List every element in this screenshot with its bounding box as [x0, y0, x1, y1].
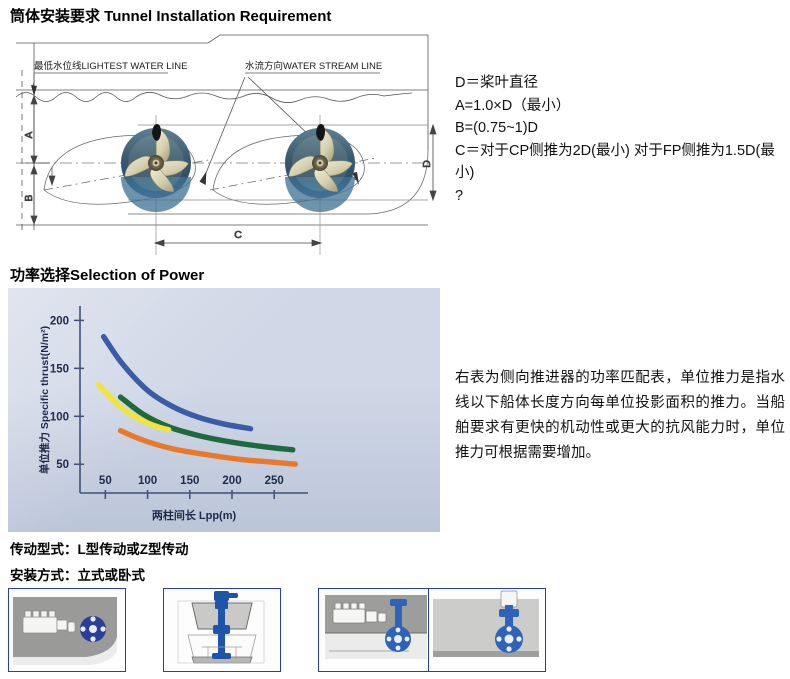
- specific-thrust-chart: 5010015020050100150200250 单位推力 Specific …: [8, 288, 440, 532]
- formula-d: D＝桨叶直径: [455, 72, 785, 95]
- svg-text:最低水位线LIGHTEST WATER LINE: 最低水位线LIGHTEST WATER LINE: [34, 60, 187, 72]
- drive-type-line: 传动型式：L型传动或Z型传动: [10, 538, 189, 558]
- dimension-d: D: [421, 125, 436, 200]
- chart-y-axis-label: 单位推力 Specific thrust(N/m²): [38, 326, 51, 474]
- chart-x-tick-label: 100: [138, 475, 157, 487]
- formula-c: C＝对于CP侧推为2D(最小) 对于FP侧推为1.5D(最小): [455, 140, 785, 185]
- svg-text:水流方向WATER STREAM LINE: 水流方向WATER STREAM LINE: [245, 60, 382, 72]
- chart-y-tick-label: 100: [50, 411, 69, 423]
- lightest-water-line-label: 最低水位线LIGHTEST WATER LINE: [31, 60, 187, 96]
- chart-y-tick-label: 200: [50, 315, 69, 327]
- formula-list: D＝桨叶直径 A=1.0×D（最小） B=(0.75~1)D C＝对于CP侧推为…: [455, 72, 785, 207]
- dimension-a: A: [24, 96, 37, 164]
- propeller-right: [285, 124, 355, 212]
- dimension-b: B: [24, 163, 50, 224]
- formula-b: B=(0.75~1)D: [455, 117, 785, 140]
- svg-text:D: D: [421, 160, 433, 168]
- chart-x-tick-label: 250: [265, 475, 284, 487]
- power-section-heading: 功率选择Selection of Power: [10, 264, 204, 285]
- svg-text:B: B: [24, 194, 35, 201]
- tunnel-section-heading: 筒体安装要求 Tunnel Installation Requirement: [10, 5, 331, 26]
- chart-x-axis-label: 两柱间长 Lpp(m): [152, 508, 237, 522]
- horizontal-engine-thruster-photo[interactable]: [8, 588, 126, 672]
- chart-y-tick-label: 50: [56, 459, 69, 471]
- tunnel-installation-drawing: 最低水位线LIGHTEST WATER LINE 水流方向WATER STREA…: [8, 30, 438, 255]
- svg-text:C: C: [234, 229, 242, 241]
- vertical-drive-unit-photo[interactable]: [428, 588, 546, 672]
- installation-photo-strip: [8, 588, 528, 672]
- install-type-line: 安装方式：立式或卧式: [10, 564, 145, 584]
- document-page: 筒体安装要求 Tunnel Installation Requirement: [0, 0, 790, 679]
- chart-x-tick-label: 50: [99, 475, 112, 487]
- propeller-left: [121, 124, 191, 212]
- chart-y-tick-label: 150: [50, 363, 69, 375]
- engine-driven-thruster-photo[interactable]: [318, 588, 436, 672]
- chart-series-0: [104, 337, 251, 429]
- vertical-shaft-thruster-photo[interactable]: [163, 588, 281, 672]
- svg-text:A: A: [24, 131, 35, 138]
- formula-a: A=1.0×D（最小）: [455, 95, 785, 118]
- chart-x-tick-label: 150: [180, 475, 199, 487]
- chart-x-tick-label: 200: [222, 475, 241, 487]
- power-selection-note: 右表为侧向推进器的功率匹配表，单位推力是指水线以下船体长度方向每单位投影面积的推…: [455, 366, 785, 466]
- dimension-c: C: [155, 229, 321, 246]
- formula-question: ?: [455, 185, 785, 208]
